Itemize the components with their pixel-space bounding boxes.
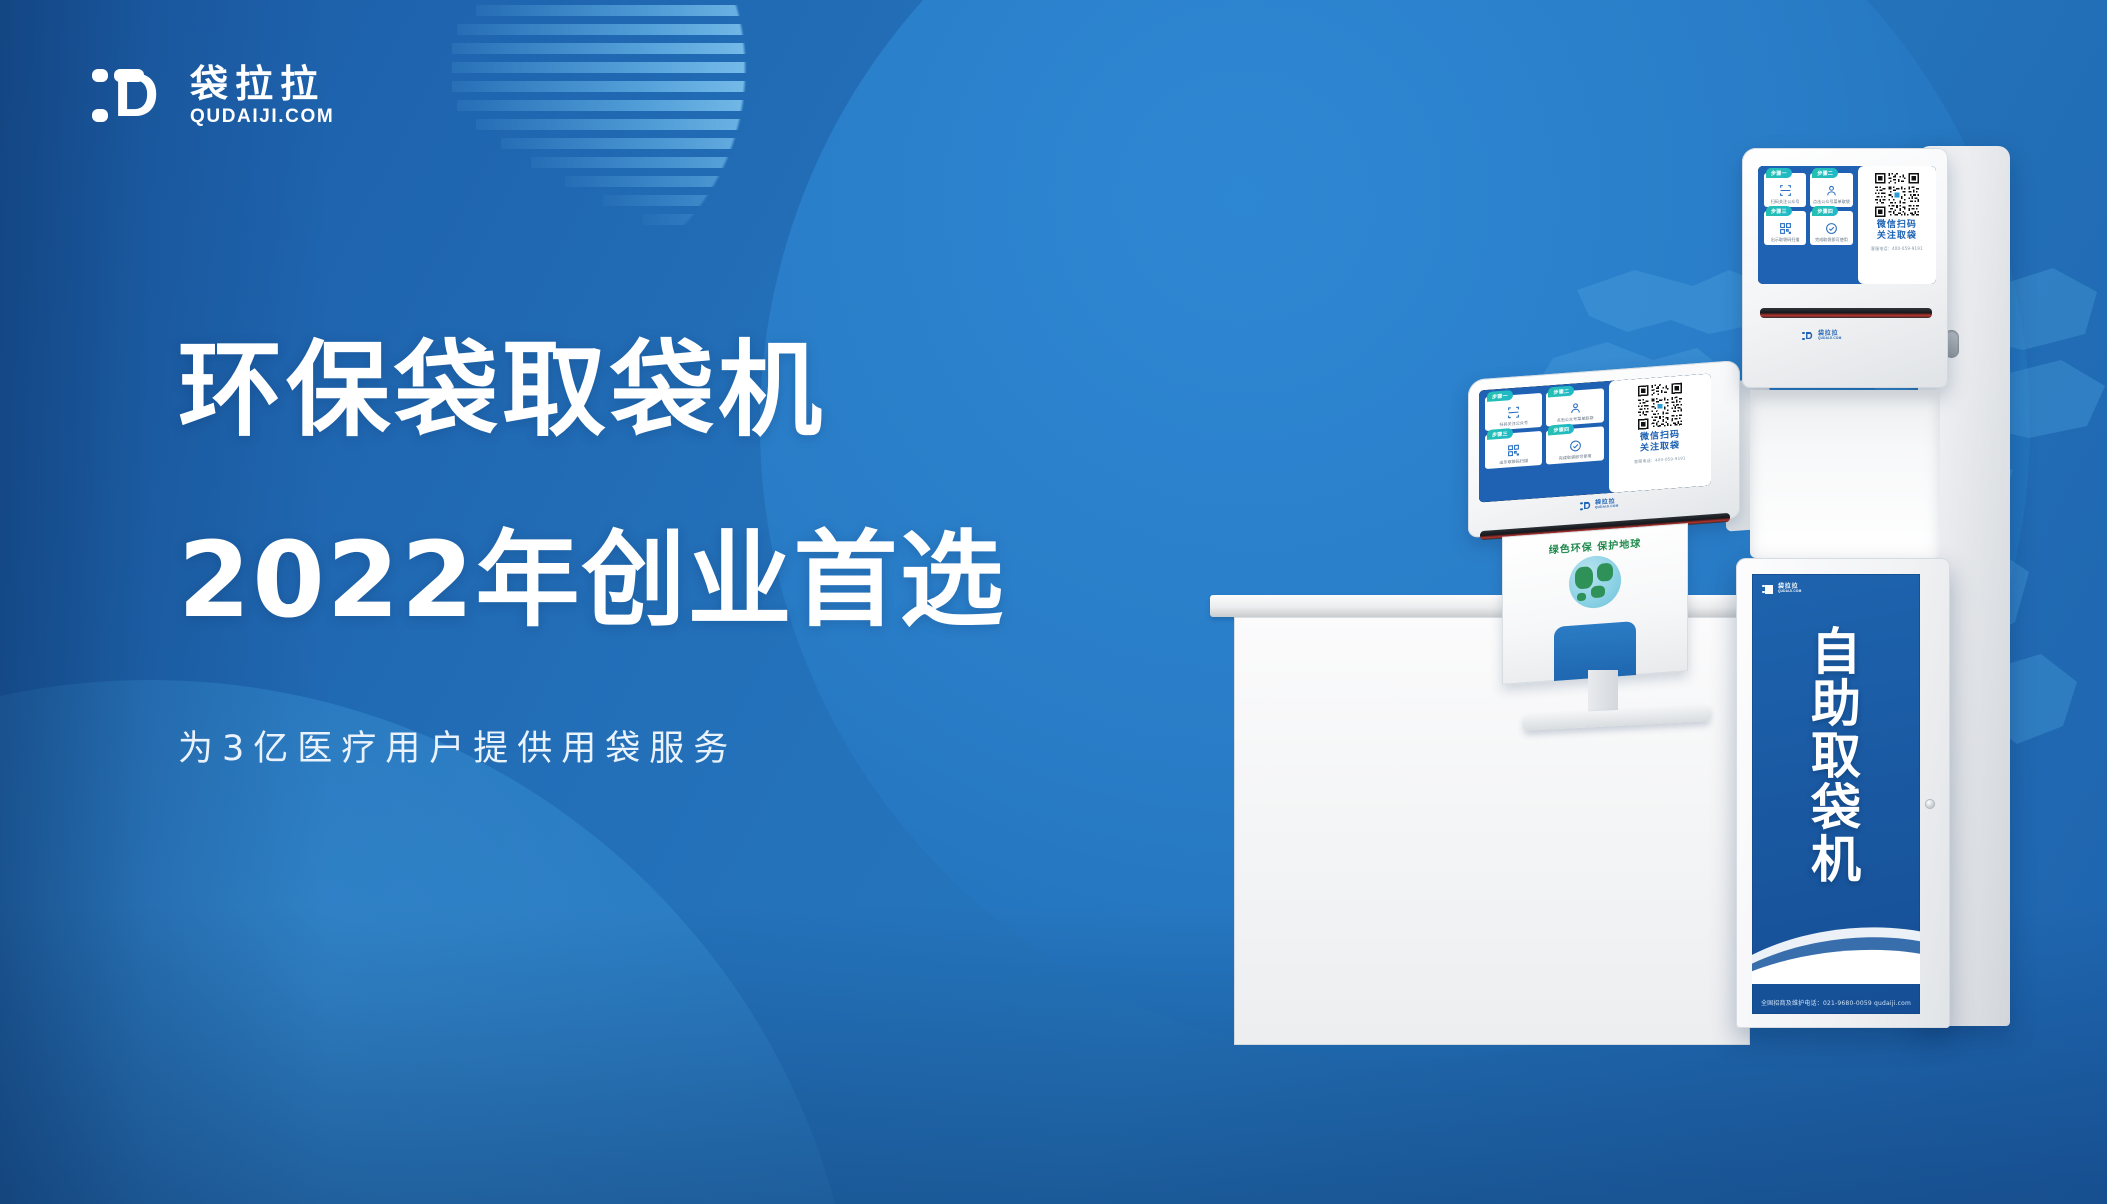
brand-name-en: QUDAIJI.COM xyxy=(1818,337,1841,340)
step-card-grid-large: 步骤一 扫码关注公众号 步骤二 xyxy=(1758,166,1858,284)
qr-title-line-1: 微信扫码 xyxy=(1877,220,1917,231)
kiosk-vertical-title-char: 自 xyxy=(1811,626,1861,678)
stripe-bar xyxy=(501,138,792,149)
kiosk-branding-panel: D 袋拉拉 QUDAIJI.COM 自助取袋机 全国招商及维护电话：021-96… xyxy=(1752,574,1920,1014)
stripe-bar xyxy=(565,176,792,187)
stripe-bar xyxy=(457,24,792,35)
hero-subline: 为3亿医疗用户提供用袋服务 xyxy=(178,728,1005,770)
step-card[interactable]: 步骤二 点击公众号菜单取袋 xyxy=(1546,388,1603,426)
step-caption: 点击公众号菜单取袋 xyxy=(1813,199,1850,204)
stripe-bar xyxy=(531,157,792,168)
step-tag: 步骤四 xyxy=(1548,424,1574,436)
green-earth-icon xyxy=(1569,554,1621,610)
brand-name-cn: 袋拉拉 xyxy=(190,65,334,105)
stripe-bar xyxy=(476,119,792,130)
step-card[interactable]: 步骤四 完成取袋即可使用 xyxy=(1810,211,1852,245)
brand-name-en: QUDAIJI.COM xyxy=(190,107,334,126)
step-tag: 步骤二 xyxy=(1812,168,1838,178)
step-caption: 扫码关注公众号 xyxy=(1771,199,1800,204)
scan-qr-icon xyxy=(1507,405,1520,419)
counter-front-panel xyxy=(1234,617,1750,1045)
step-card-grid-small: 步骤一 扫码关注公众号 步骤二 点击公众号菜单取袋 xyxy=(1479,381,1609,503)
wechat-qr-code[interactable] xyxy=(1874,172,1920,218)
qr-title-line-2: 关注取袋 xyxy=(1877,231,1917,242)
qr-code-icon xyxy=(1507,443,1520,457)
kiosk-touchscreen[interactable]: 步骤一 扫码关注公众号 步骤二 xyxy=(1758,166,1936,284)
step-card[interactable]: 步骤一 扫码关注公众号 xyxy=(1485,393,1542,431)
kiosk-dispense-slot xyxy=(1760,308,1932,318)
countertop-bag-tray: 绿色环保 保护地球 xyxy=(1502,523,1688,685)
kiosk-panel-brand-logo: D 袋拉拉 QUDAIJI.COM xyxy=(1762,584,1801,594)
kiosk-vertical-title: 自助取袋机 xyxy=(1752,626,1920,886)
colon-d-logo-icon: D xyxy=(1802,331,1814,341)
step-caption: 扫码关注公众号 xyxy=(1499,420,1528,427)
colon-d-logo-icon: D xyxy=(92,60,170,126)
kiosk-panel-footer: 全国招商及维护电话：021-9680-0059 qudaiji.com xyxy=(1752,998,1920,1007)
kiosk-vertical-title-char: 助 xyxy=(1811,678,1861,730)
kiosk-head-brand-logo: D 袋拉拉 QUDAIJI.COM xyxy=(1802,331,1841,341)
stripe-bar xyxy=(457,100,792,111)
stripe-bar xyxy=(642,214,792,225)
countertop-bag-dispenser[interactable]: 步骤一 扫码关注公众号 步骤二 点击公众号菜单取袋 xyxy=(1468,370,1768,620)
step-caption: 点击公众号菜单取袋 xyxy=(1557,415,1594,423)
stripe-bar xyxy=(476,5,792,16)
step-tag: 步骤二 xyxy=(1548,386,1574,398)
striped-sphere-motif xyxy=(452,0,802,234)
step-tag: 步骤一 xyxy=(1766,168,1792,178)
dispenser-ui-small: 步骤一 扫码关注公众号 步骤二 点击公众号菜单取袋 xyxy=(1479,373,1711,502)
qr-code-icon xyxy=(1779,222,1792,235)
kiosk-vertical-title-char: 袋 xyxy=(1811,782,1861,834)
qr-title-line-2: 关注取袋 xyxy=(1640,441,1680,455)
headline-line-2: 2022年创业首选 xyxy=(178,528,1005,632)
step-caption: 出示取袋码扫描 xyxy=(1771,237,1800,242)
kiosk-head-housing: 步骤一 扫码关注公众号 步骤二 xyxy=(1742,148,1948,388)
hero-copy: 环保袋取袋机 2022年创业首选 为3亿医疗用户提供用袋服务 xyxy=(178,338,1005,770)
register-user-icon xyxy=(1569,401,1582,415)
panel-wave-decoration xyxy=(1752,908,1920,984)
product-scene: 步骤一 扫码关注公众号 步骤二 点击公众号菜单取袋 xyxy=(1180,140,2080,1140)
hotline-text: 客服电话：400-059-9191 xyxy=(1634,455,1686,465)
step-caption: 出示取袋码扫描 xyxy=(1499,458,1528,465)
floor-standing-bag-dispenser[interactable]: 步骤一 扫码关注公众号 步骤二 xyxy=(1736,140,2066,1040)
step-card[interactable]: 步骤三 出示取袋码扫描 xyxy=(1485,431,1542,469)
stripe-bar xyxy=(452,81,792,92)
countertop-touchscreen[interactable]: 步骤一 扫码关注公众号 步骤二 点击公众号菜单取袋 xyxy=(1479,373,1711,502)
promo-banner: D 袋拉拉 QUDAIJI.COM 环保袋取袋机 2022年创业首选 为3亿医疗… xyxy=(0,0,2107,1204)
headline-line-1: 环保袋取袋机 xyxy=(178,338,1005,442)
qr-panel-small: 微信扫码 关注取袋 客服电话：400-059-9191 xyxy=(1609,373,1711,492)
stripe-bar xyxy=(452,62,792,73)
colon-d-logo-icon: D xyxy=(1762,584,1774,594)
hotline-text: 客服电话：400-059-9191 xyxy=(1871,246,1923,252)
step-card[interactable]: 步骤三 出示取袋码扫描 xyxy=(1764,211,1806,245)
step-card[interactable]: 步骤一 扫码关注公众号 xyxy=(1764,173,1806,207)
step-tag: 步骤三 xyxy=(1766,206,1792,216)
step-card[interactable]: 步骤二 点击公众号菜单取袋 xyxy=(1810,173,1852,207)
step-card[interactable]: 步骤四 完成取袋即可使用 xyxy=(1546,426,1603,464)
kiosk-pickup-recess xyxy=(1750,390,1940,558)
check-circle-icon xyxy=(1569,439,1582,453)
step-caption: 完成取袋即可使用 xyxy=(1559,453,1592,460)
colon-d-logo-icon: D xyxy=(1580,501,1592,512)
step-tag: 步骤四 xyxy=(1812,206,1838,216)
dispenser-ui-large: 步骤一 扫码关注公众号 步骤二 xyxy=(1758,166,1936,284)
qr-panel-large: 微信扫码 关注取袋 客服电话：400-059-9191 xyxy=(1858,166,1936,284)
stripe-bar xyxy=(603,195,792,206)
brand-logo[interactable]: D 袋拉拉 QUDAIJI.COM xyxy=(92,60,334,126)
register-user-icon xyxy=(1825,184,1838,197)
step-tag: 步骤一 xyxy=(1487,390,1513,402)
step-caption: 完成取袋即可使用 xyxy=(1815,237,1848,242)
check-circle-icon xyxy=(1825,222,1838,235)
scan-qr-icon xyxy=(1779,184,1792,197)
kiosk-vertical-title-char: 取 xyxy=(1811,730,1861,782)
step-tag: 步骤三 xyxy=(1487,428,1513,440)
wechat-qr-code[interactable] xyxy=(1637,382,1683,431)
kiosk-cabinet-lock[interactable] xyxy=(1926,800,1934,808)
stripe-bar xyxy=(452,43,792,54)
kiosk-vertical-title-char: 机 xyxy=(1811,834,1861,886)
brand-name-en: QUDAIJI.COM xyxy=(1778,590,1801,593)
